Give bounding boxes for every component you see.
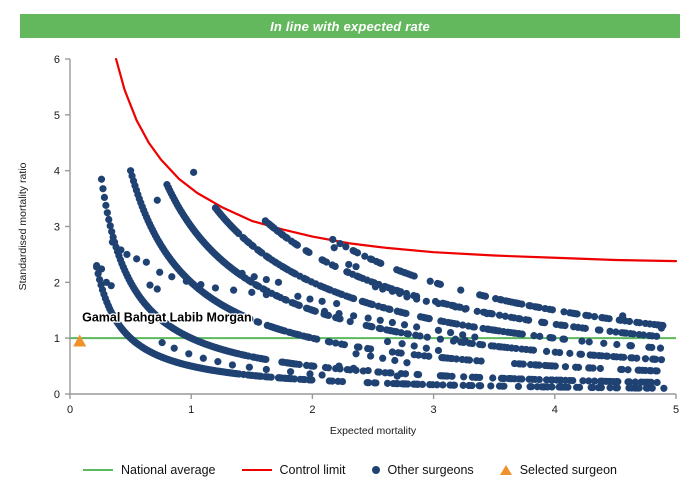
data-point bbox=[117, 246, 124, 253]
data-point bbox=[500, 383, 507, 390]
data-point bbox=[415, 371, 422, 378]
data-point bbox=[394, 373, 401, 380]
data-point bbox=[319, 298, 326, 305]
data-point bbox=[154, 197, 161, 204]
y-tick-label: 4 bbox=[54, 166, 60, 178]
data-point bbox=[355, 344, 362, 351]
data-point bbox=[653, 367, 660, 374]
data-point bbox=[562, 363, 569, 370]
data-point bbox=[426, 315, 433, 322]
data-point bbox=[596, 327, 603, 334]
data-point bbox=[321, 308, 328, 315]
data-point bbox=[576, 384, 583, 391]
axes-layer: 0123456012345 bbox=[54, 54, 679, 416]
data-point bbox=[379, 285, 386, 292]
data-point bbox=[536, 333, 543, 340]
data-point bbox=[549, 334, 556, 341]
legend-item-control-limit[interactable]: Control limit bbox=[242, 463, 346, 477]
data-point bbox=[483, 310, 490, 317]
y-tick-label: 6 bbox=[54, 54, 60, 66]
data-point bbox=[437, 281, 444, 288]
data-point bbox=[628, 342, 635, 349]
data-point bbox=[556, 349, 563, 356]
data-point bbox=[185, 350, 192, 357]
data-point bbox=[239, 270, 246, 277]
data-point bbox=[306, 295, 313, 302]
data-point bbox=[423, 345, 430, 352]
data-point bbox=[437, 336, 444, 343]
data-point bbox=[536, 376, 543, 383]
data-point bbox=[306, 370, 313, 377]
data-point bbox=[591, 313, 598, 320]
data-point bbox=[384, 338, 391, 345]
data-point bbox=[389, 288, 396, 295]
data-point bbox=[296, 361, 303, 368]
selected-surgeon-label: Gamal Bahgat Labib Morgan bbox=[82, 310, 251, 324]
data-point bbox=[350, 312, 357, 319]
data-point bbox=[626, 318, 633, 325]
data-point bbox=[403, 359, 410, 366]
data-point bbox=[183, 278, 190, 285]
data-point bbox=[368, 323, 375, 330]
selected-surgeon-marker[interactable] bbox=[73, 334, 86, 346]
data-point bbox=[471, 333, 478, 340]
data-point bbox=[476, 374, 483, 381]
data-point bbox=[578, 351, 585, 358]
data-point bbox=[308, 376, 315, 383]
data-point bbox=[575, 364, 582, 371]
data-point bbox=[561, 322, 568, 329]
data-point bbox=[452, 336, 459, 343]
data-point bbox=[548, 383, 555, 390]
data-point bbox=[462, 306, 469, 313]
data-point bbox=[439, 381, 446, 388]
data-point bbox=[466, 357, 473, 364]
data-point bbox=[372, 379, 379, 386]
data-point bbox=[98, 265, 105, 272]
data-point bbox=[649, 385, 656, 392]
data-point bbox=[451, 382, 458, 389]
data-point bbox=[435, 327, 442, 334]
funnel-plot-page: In line with expected rate 0123456012345… bbox=[0, 0, 700, 500]
data-point bbox=[212, 284, 219, 291]
data-point bbox=[574, 310, 581, 317]
data-point bbox=[658, 325, 665, 332]
data-point bbox=[101, 194, 108, 201]
annotation-layer: Gamal Bahgat Labib Morgan bbox=[82, 310, 251, 324]
data-point bbox=[487, 382, 494, 389]
data-point bbox=[636, 384, 643, 391]
legend-item-selected-surgeon[interactable]: Selected surgeon bbox=[500, 463, 617, 477]
data-point bbox=[561, 336, 568, 343]
data-point bbox=[102, 202, 109, 209]
data-point bbox=[105, 216, 112, 223]
data-point bbox=[620, 354, 627, 361]
data-point bbox=[633, 355, 640, 362]
data-point bbox=[613, 341, 620, 348]
data-point bbox=[525, 317, 532, 324]
data-point bbox=[379, 355, 386, 362]
data-point bbox=[479, 341, 486, 348]
legend-item-label: Selected surgeon bbox=[520, 463, 617, 477]
data-point bbox=[590, 365, 597, 372]
data-point bbox=[352, 350, 359, 357]
legend-line-icon bbox=[242, 469, 272, 471]
legend-triangle-icon bbox=[500, 465, 512, 475]
data-point bbox=[398, 350, 405, 357]
data-point bbox=[350, 365, 357, 372]
x-tick-label: 4 bbox=[552, 404, 558, 416]
data-point bbox=[447, 329, 454, 336]
data-point bbox=[578, 338, 585, 345]
data-point bbox=[518, 375, 525, 382]
data-point bbox=[296, 302, 303, 309]
data-point bbox=[518, 301, 525, 308]
data-point bbox=[530, 347, 537, 354]
data-point bbox=[600, 340, 607, 347]
data-point bbox=[471, 323, 478, 330]
data-point bbox=[377, 317, 384, 324]
x-tick-label: 0 bbox=[67, 404, 73, 416]
data-point bbox=[448, 373, 455, 380]
data-point bbox=[435, 300, 442, 307]
data-point bbox=[146, 282, 153, 289]
data-point bbox=[365, 314, 372, 321]
y-tick-label: 5 bbox=[54, 110, 60, 122]
data-point bbox=[520, 361, 527, 368]
data-point bbox=[333, 300, 340, 307]
data-point bbox=[123, 251, 130, 258]
data-point bbox=[597, 365, 604, 372]
data-point bbox=[543, 348, 550, 355]
selected-surgeon-layer[interactable] bbox=[73, 334, 86, 346]
data-point bbox=[549, 306, 556, 313]
data-point bbox=[350, 295, 357, 302]
data-point bbox=[515, 383, 522, 390]
data-point bbox=[143, 259, 150, 266]
data-point bbox=[159, 339, 166, 346]
data-point bbox=[339, 378, 346, 385]
x-axis-title: Expected mortality bbox=[330, 425, 417, 437]
data-point bbox=[425, 353, 432, 360]
status-banner: In line with expected rate bbox=[20, 14, 680, 38]
data-point bbox=[98, 176, 105, 183]
data-point bbox=[519, 331, 526, 338]
data-point bbox=[624, 366, 631, 373]
data-point bbox=[367, 352, 374, 359]
data-point bbox=[133, 255, 140, 262]
data-point bbox=[402, 310, 409, 317]
data-point bbox=[109, 239, 116, 246]
data-point bbox=[305, 249, 312, 256]
funnel-plot-svg: 0123456012345 Gamal Bahgat Labib Morgan … bbox=[0, 40, 700, 450]
data-point bbox=[435, 347, 442, 354]
data-point bbox=[478, 357, 485, 364]
data-point bbox=[482, 293, 489, 300]
data-point bbox=[427, 278, 434, 285]
control-limit-curve bbox=[116, 59, 676, 261]
data-point bbox=[275, 279, 282, 286]
y-tick-label: 2 bbox=[54, 277, 60, 289]
y-tick-label: 0 bbox=[54, 389, 60, 401]
data-point bbox=[411, 272, 418, 279]
data-point bbox=[413, 323, 420, 330]
data-point bbox=[541, 319, 548, 326]
data-point bbox=[229, 361, 236, 368]
data-point bbox=[423, 298, 430, 305]
data-point bbox=[658, 356, 665, 363]
data-point bbox=[310, 363, 317, 370]
data-point bbox=[230, 287, 237, 294]
data-point bbox=[335, 362, 342, 369]
data-point bbox=[262, 356, 269, 363]
data-point bbox=[263, 366, 270, 373]
data-point bbox=[468, 382, 475, 389]
data-point bbox=[335, 310, 342, 317]
data-point bbox=[469, 340, 476, 347]
data-points-layer bbox=[93, 167, 667, 392]
data-point bbox=[648, 344, 655, 351]
data-point bbox=[398, 340, 405, 347]
data-point bbox=[411, 342, 418, 349]
data-point bbox=[566, 350, 573, 357]
data-point bbox=[452, 303, 459, 310]
data-point bbox=[462, 337, 469, 344]
data-point bbox=[341, 341, 348, 348]
status-banner-label: In line with expected rate bbox=[270, 19, 430, 34]
legend-dot-icon bbox=[372, 466, 380, 474]
data-point bbox=[251, 273, 258, 280]
data-point bbox=[294, 293, 301, 300]
data-point bbox=[313, 336, 320, 343]
data-point bbox=[268, 374, 275, 381]
data-point bbox=[614, 384, 621, 391]
data-point bbox=[619, 312, 626, 319]
data-point bbox=[372, 283, 379, 290]
legend-line-icon bbox=[83, 469, 113, 471]
data-point bbox=[332, 263, 339, 270]
data-point bbox=[377, 260, 384, 267]
data-point bbox=[197, 281, 204, 288]
data-point bbox=[329, 236, 336, 243]
x-tick-label: 2 bbox=[309, 404, 315, 416]
data-point bbox=[99, 185, 106, 192]
y-axis-title: Standardised mortality ratio bbox=[17, 162, 29, 290]
data-point bbox=[325, 364, 332, 371]
data-point bbox=[401, 321, 408, 328]
legend-item-other-surgeons[interactable]: Other surgeons bbox=[372, 463, 474, 477]
legend-item-national-average[interactable]: National average bbox=[83, 463, 216, 477]
data-point bbox=[598, 384, 605, 391]
data-point bbox=[319, 371, 326, 378]
data-point bbox=[457, 286, 464, 293]
data-point bbox=[474, 308, 481, 315]
data-point bbox=[345, 261, 352, 268]
data-point bbox=[331, 244, 338, 251]
data-point bbox=[342, 243, 349, 250]
data-point bbox=[657, 345, 664, 352]
x-tick-label: 1 bbox=[188, 404, 194, 416]
legend-item-label: Other surgeons bbox=[388, 463, 474, 477]
data-point bbox=[156, 269, 163, 276]
data-point bbox=[263, 291, 270, 298]
data-point bbox=[154, 285, 161, 292]
data-point bbox=[413, 295, 420, 302]
data-point bbox=[104, 209, 111, 216]
data-point bbox=[168, 273, 175, 280]
data-point bbox=[294, 242, 301, 249]
data-point bbox=[642, 355, 649, 362]
data-point bbox=[416, 332, 423, 339]
data-point bbox=[287, 368, 294, 375]
data-point bbox=[190, 169, 197, 176]
data-point bbox=[382, 369, 389, 376]
data-point bbox=[312, 308, 319, 315]
data-point bbox=[402, 370, 409, 377]
data-point bbox=[477, 382, 484, 389]
data-point bbox=[586, 338, 593, 345]
data-point bbox=[405, 330, 412, 337]
data-point bbox=[354, 249, 361, 256]
data-point bbox=[391, 357, 398, 364]
chart-legend: National averageControl limitOther surge… bbox=[0, 455, 700, 485]
data-point bbox=[389, 319, 396, 326]
data-point bbox=[263, 276, 270, 283]
data-point bbox=[214, 358, 221, 365]
x-tick-label: 5 bbox=[673, 404, 679, 416]
data-point bbox=[564, 384, 571, 391]
data-point bbox=[386, 306, 393, 313]
data-point bbox=[460, 373, 467, 380]
x-tick-label: 3 bbox=[431, 404, 437, 416]
data-point bbox=[569, 377, 576, 384]
data-point bbox=[660, 385, 667, 392]
data-point bbox=[424, 334, 431, 341]
data-point bbox=[614, 378, 621, 385]
data-point bbox=[171, 345, 178, 352]
chart-area: 0123456012345 Gamal Bahgat Labib Morgan … bbox=[0, 40, 700, 450]
data-point bbox=[489, 374, 496, 381]
y-tick-label: 1 bbox=[54, 333, 60, 345]
data-point bbox=[246, 364, 253, 371]
data-point bbox=[365, 367, 372, 374]
data-point bbox=[367, 345, 374, 352]
y-tick-label: 3 bbox=[54, 222, 60, 234]
data-point bbox=[403, 293, 410, 300]
data-point bbox=[248, 289, 255, 296]
legend-item-label: Control limit bbox=[280, 463, 346, 477]
data-point bbox=[653, 379, 660, 386]
data-point bbox=[419, 381, 426, 388]
data-point bbox=[653, 333, 660, 340]
data-point bbox=[606, 315, 613, 322]
data-point bbox=[200, 355, 207, 362]
data-point bbox=[352, 263, 359, 270]
data-point bbox=[396, 290, 403, 297]
data-point bbox=[108, 282, 115, 289]
legend-item-label: National average bbox=[121, 463, 216, 477]
control-limit-layer bbox=[116, 59, 676, 261]
data-point bbox=[255, 319, 262, 326]
data-point bbox=[552, 363, 559, 370]
data-point bbox=[582, 325, 589, 332]
